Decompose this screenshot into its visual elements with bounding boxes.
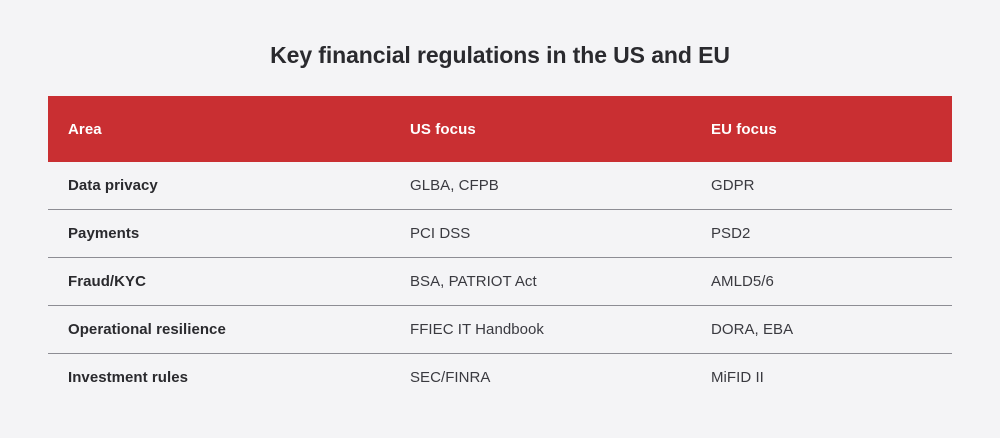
table-row: Fraud/KYC BSA, PATRIOT Act AMLD5/6 — [48, 258, 952, 306]
cell-us-focus: GLBA, CFPB — [390, 162, 691, 210]
cell-us-focus: BSA, PATRIOT Act — [390, 258, 691, 306]
regulations-table-container: Area US focus EU focus Data privacy GLBA… — [48, 96, 952, 401]
column-header-eu-focus: EU focus — [691, 96, 952, 162]
cell-area: Fraud/KYC — [48, 258, 390, 306]
cell-us-focus: SEC/FINRA — [390, 354, 691, 402]
regulations-table: Area US focus EU focus Data privacy GLBA… — [48, 96, 952, 401]
table-row: Operational resilience FFIEC IT Handbook… — [48, 306, 952, 354]
cell-eu-focus: DORA, EBA — [691, 306, 952, 354]
column-header-us-focus: US focus — [390, 96, 691, 162]
cell-area: Investment rules — [48, 354, 390, 402]
cell-area: Operational resilience — [48, 306, 390, 354]
table-header-row: Area US focus EU focus — [48, 96, 952, 162]
cell-eu-focus: PSD2 — [691, 210, 952, 258]
cell-area: Data privacy — [48, 162, 390, 210]
table-body: Data privacy GLBA, CFPB GDPR Payments PC… — [48, 162, 952, 401]
cell-area: Payments — [48, 210, 390, 258]
table-row: Investment rules SEC/FINRA MiFID II — [48, 354, 952, 402]
table-row: Data privacy GLBA, CFPB GDPR — [48, 162, 952, 210]
table-header: Area US focus EU focus — [48, 96, 952, 162]
cell-eu-focus: AMLD5/6 — [691, 258, 952, 306]
table-row: Payments PCI DSS PSD2 — [48, 210, 952, 258]
page-title: Key financial regulations in the US and … — [0, 40, 1000, 70]
cell-eu-focus: MiFID II — [691, 354, 952, 402]
cell-eu-focus: GDPR — [691, 162, 952, 210]
column-header-area: Area — [48, 96, 390, 162]
page-root: Key financial regulations in the US and … — [0, 0, 1000, 438]
cell-us-focus: FFIEC IT Handbook — [390, 306, 691, 354]
cell-us-focus: PCI DSS — [390, 210, 691, 258]
